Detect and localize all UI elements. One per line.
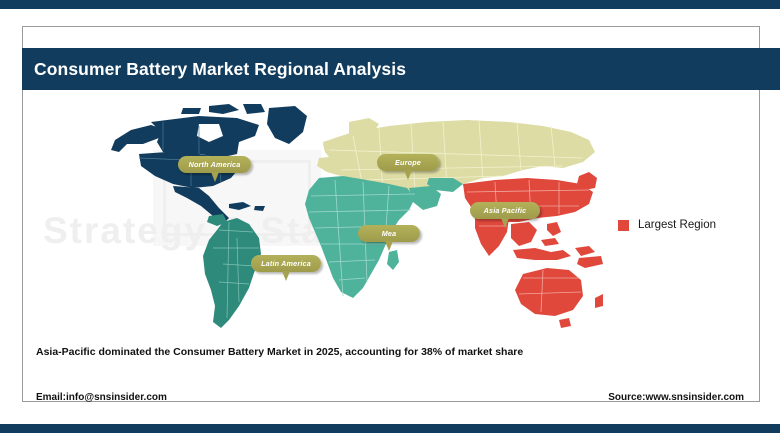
callout-tail-mea	[385, 241, 393, 251]
map-container: Strategy & Stats	[23, 92, 603, 332]
footer-email: Email:info@snsinsider.com	[36, 392, 167, 403]
top-edge-strip	[0, 0, 780, 9]
footer-source: Source:www.snsinsider.com	[608, 392, 744, 403]
map-label-asia-pacific-text: Asia Pacific	[484, 206, 527, 215]
legend-swatch-largest-region	[618, 220, 629, 231]
map-region-latin-america[interactable]	[203, 214, 261, 328]
map-label-latin-america[interactable]: Latin America	[251, 255, 321, 272]
legend: Largest Region	[618, 219, 716, 231]
map-label-europe[interactable]: Europe	[377, 154, 439, 171]
map-label-north-america-text: North America	[189, 160, 241, 169]
map-label-latin-america-text: Latin America	[261, 259, 311, 268]
bottom-edge-strip	[0, 424, 780, 433]
page-title: Consumer Battery Market Regional Analysi…	[34, 59, 406, 80]
title-bar: Consumer Battery Market Regional Analysi…	[22, 48, 780, 90]
caption-text: Asia-Pacific dominated the Consumer Batt…	[36, 346, 523, 358]
map-label-asia-pacific[interactable]: Asia Pacific	[470, 202, 540, 219]
map-label-north-america[interactable]: North America	[178, 156, 251, 173]
map-label-mea[interactable]: Mea	[358, 225, 420, 242]
callout-tail-asia-pacific	[501, 218, 509, 228]
callout-tail-north-america	[211, 172, 219, 182]
map-label-mea-text: Mea	[382, 229, 397, 238]
callout-tail-europe	[404, 170, 412, 180]
map-region-asia-pacific[interactable]	[463, 172, 603, 328]
map-label-europe-text: Europe	[395, 158, 421, 167]
callout-tail-latin-america	[282, 271, 290, 281]
legend-label-largest-region: Largest Region	[638, 219, 716, 231]
